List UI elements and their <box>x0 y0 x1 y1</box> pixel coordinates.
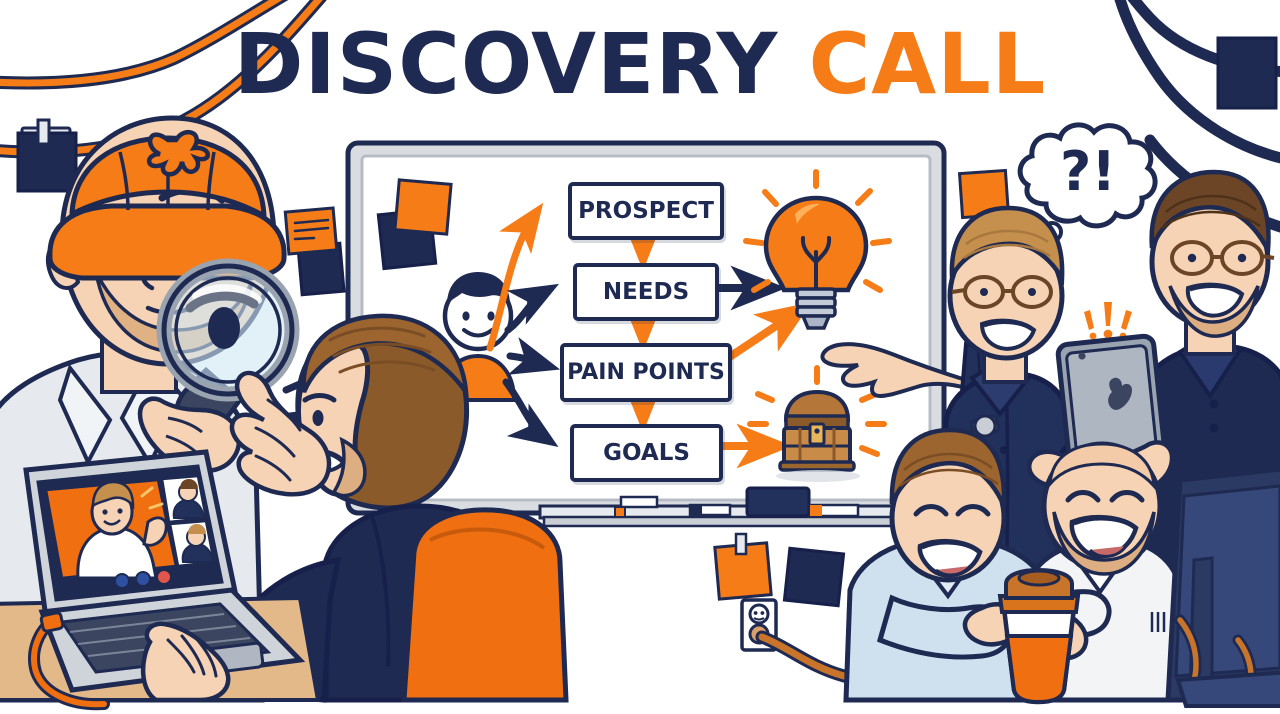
camera-button <box>136 572 150 586</box>
foreground-layer: ?! <box>0 0 1280 714</box>
exclamation-burst <box>1084 302 1132 339</box>
sticky-note-wall-orange <box>715 534 771 599</box>
thought-bubble-text: ?! <box>1060 140 1116 203</box>
illustration-canvas: DISCOVERY CALL <box>0 0 1280 714</box>
end-call-button <box>157 570 171 584</box>
coffee-cup-icon <box>1000 570 1078 702</box>
mic-button <box>115 574 129 588</box>
sticky-note-left-orange <box>285 208 336 254</box>
sticky-note-wall-navy <box>784 548 843 605</box>
